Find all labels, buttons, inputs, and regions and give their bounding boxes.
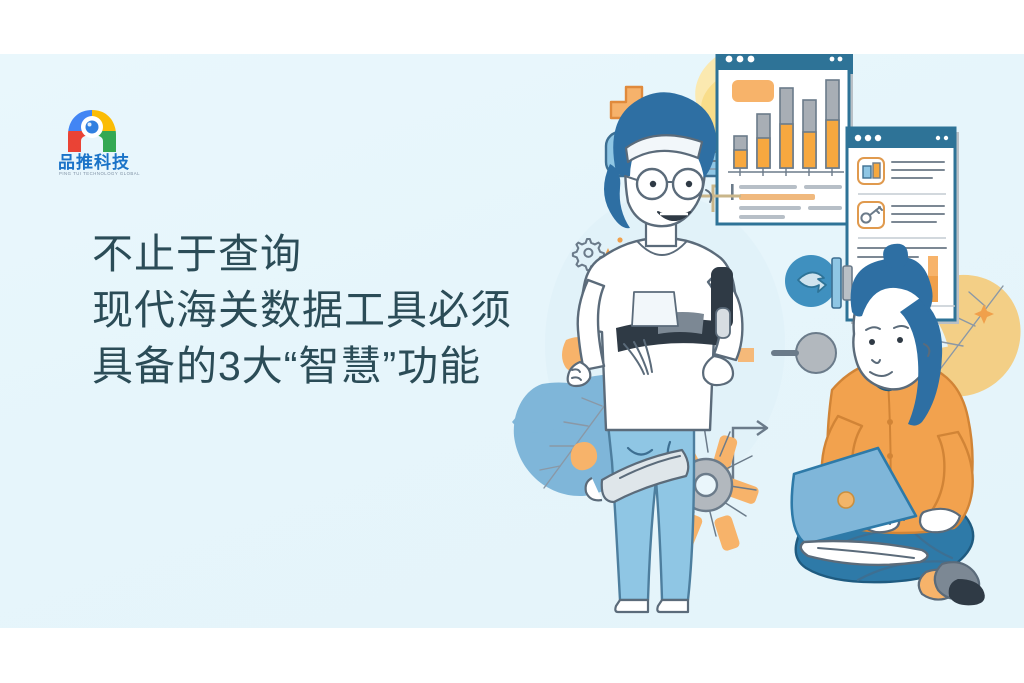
logo-tagline: PING TUI TECHNOLOGY GLOBAL <box>59 171 151 176</box>
banner-canvas: 品推科技 PING TUI TECHNOLOGY GLOBAL 不止于查询 现代… <box>0 54 1024 628</box>
logo-mark-icon <box>66 109 118 153</box>
hero-illustration: .ln1 { fill:none; stroke:#5b6b7a; stroke… <box>480 54 1024 628</box>
banner-root: 品推科技 PING TUI TECHNOLOGY GLOBAL 不止于查询 现代… <box>0 0 1024 683</box>
logo-company-name: 品推科技 <box>58 153 150 172</box>
chart-window <box>693 54 853 224</box>
logo[interactable]: 品推科技 PING TUI TECHNOLOGY GLOBAL <box>58 109 150 179</box>
